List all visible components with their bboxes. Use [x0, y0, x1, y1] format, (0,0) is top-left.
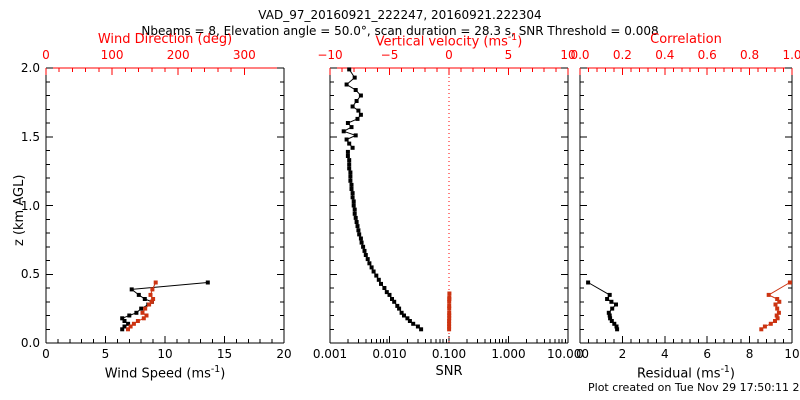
panel-3-top-tick-label: 0.6	[698, 48, 717, 62]
panel-3-series-1-marker	[609, 300, 613, 304]
panel-3-series-2-marker	[775, 297, 779, 301]
panel-3-series-2-marker	[763, 325, 767, 329]
panels-container: Wind Direction (deg)010020030005101520Wi…	[0, 0, 800, 400]
panel-3-bottom-tick-label: 4	[661, 347, 669, 361]
panel-3-top-tick-label: 1.0	[782, 48, 800, 62]
panel-3-series-1-marker	[607, 311, 611, 315]
panel-3-top-axis-title: Correlation	[580, 32, 792, 47]
panel-3-series-1-marker	[586, 281, 590, 285]
panel-3-top-tick-label: 0.4	[655, 48, 674, 62]
panel-3-bottom-tick-label: 0	[576, 347, 584, 361]
panel-3-series-1-marker	[608, 293, 612, 297]
panel-3-series-2-marker	[775, 307, 779, 311]
panel-3-series-2-marker	[774, 303, 778, 307]
panel-3-bottom-axis-title: Residual (ms-1)	[580, 364, 792, 381]
panel-3-series-2-marker	[759, 327, 763, 331]
panel-3-bottom-tick-label: 6	[703, 347, 711, 361]
panel-3-bottom-tick-label: 8	[746, 347, 754, 361]
panel-3-top-tick-label: 0.8	[740, 48, 759, 62]
panel-3-series-1-marker	[610, 307, 614, 311]
panel-3-series-1-marker	[614, 303, 618, 307]
panel-3-series-2-marker	[777, 311, 781, 315]
vad-plot-figure: VAD_97_20160921_222247, 20160921.222304 …	[0, 0, 800, 400]
panel-3-canvas	[0, 0, 800, 400]
panel-3-top-tick-label: 0.0	[570, 48, 589, 62]
panel-3-series-2-marker	[767, 293, 771, 297]
panel-3-series-1-marker	[605, 297, 609, 301]
panel-3-bottom-tick-label: 2	[619, 347, 627, 361]
panel-3-series-2-marker	[788, 281, 792, 285]
panel-3-top-tick-label: 0.2	[613, 48, 632, 62]
panel-3-bottom-tick-label: 10	[784, 347, 799, 361]
panel-3-series-2-marker	[769, 322, 773, 326]
